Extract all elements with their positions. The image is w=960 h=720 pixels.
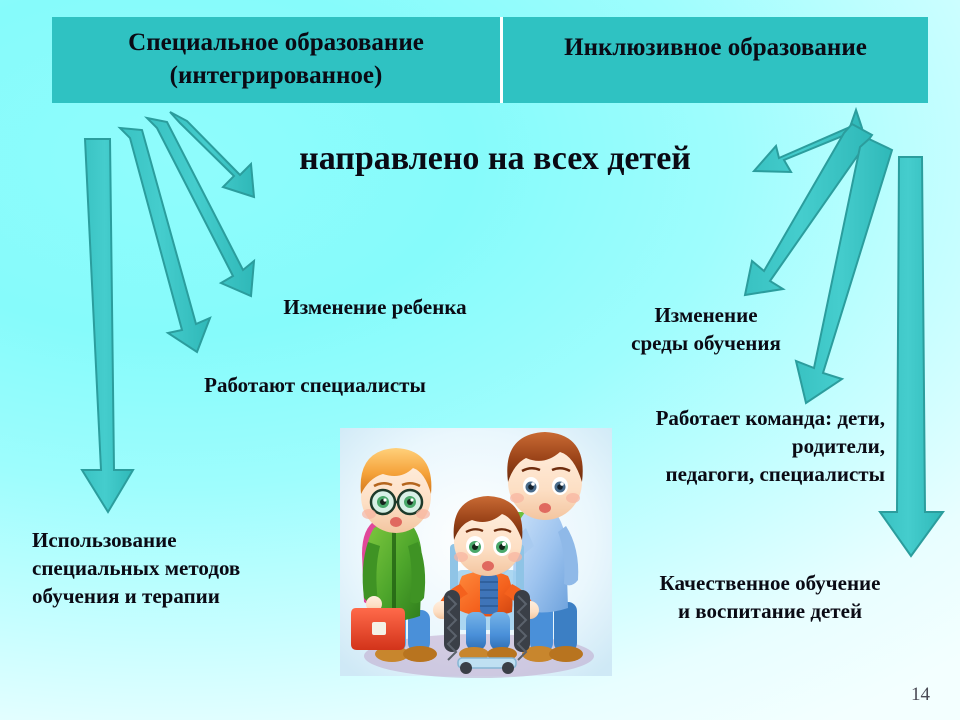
text-change-environment-line1: Изменение [586, 302, 826, 330]
text-quality-education-line1: Качественное обучение [610, 570, 930, 598]
arrow-right-vertical-to-quality [880, 157, 943, 556]
header-special-line1: Специальное образование [128, 26, 424, 59]
comparison-header-table: Специальное образование (интегрированное… [52, 17, 928, 103]
text-special-methods-line2: специальных методов [32, 555, 307, 583]
header-cell-inclusive-education: Инклюзивное образование [503, 17, 928, 103]
children-illustration [334, 424, 624, 680]
slide-canvas: Специальное образование (интегрированное… [0, 0, 960, 720]
page-number: 14 [911, 684, 930, 706]
text-specialists-work: Работают специалисты [150, 372, 480, 400]
text-quality-education: Качественное обучение и воспитание детей [610, 570, 930, 626]
text-special-methods-line1: Использование [32, 527, 307, 555]
header-cell-special-education: Специальное образование (интегрированное… [52, 17, 500, 103]
header-inclusive-line1: Инклюзивное образование [564, 31, 867, 64]
text-special-methods-line3: обучения и терапии [32, 583, 307, 611]
main-heading: направлено на всех детей [240, 140, 750, 178]
text-special-methods: Использование специальных методов обучен… [32, 527, 307, 611]
header-special-line2: (интегрированное) [128, 59, 424, 92]
text-change-child: Изменение ребенка [240, 294, 510, 322]
text-quality-education-line2: и воспитание детей [610, 598, 930, 626]
arrow-left-long-to-specialists [120, 128, 210, 352]
text-change-environment-line2: среды обучения [586, 330, 826, 358]
text-change-environment: Изменение среды обучения [586, 302, 826, 358]
arrow-left-vertical-to-methods [82, 139, 133, 512]
arrow-right-long-to-team [796, 139, 892, 403]
